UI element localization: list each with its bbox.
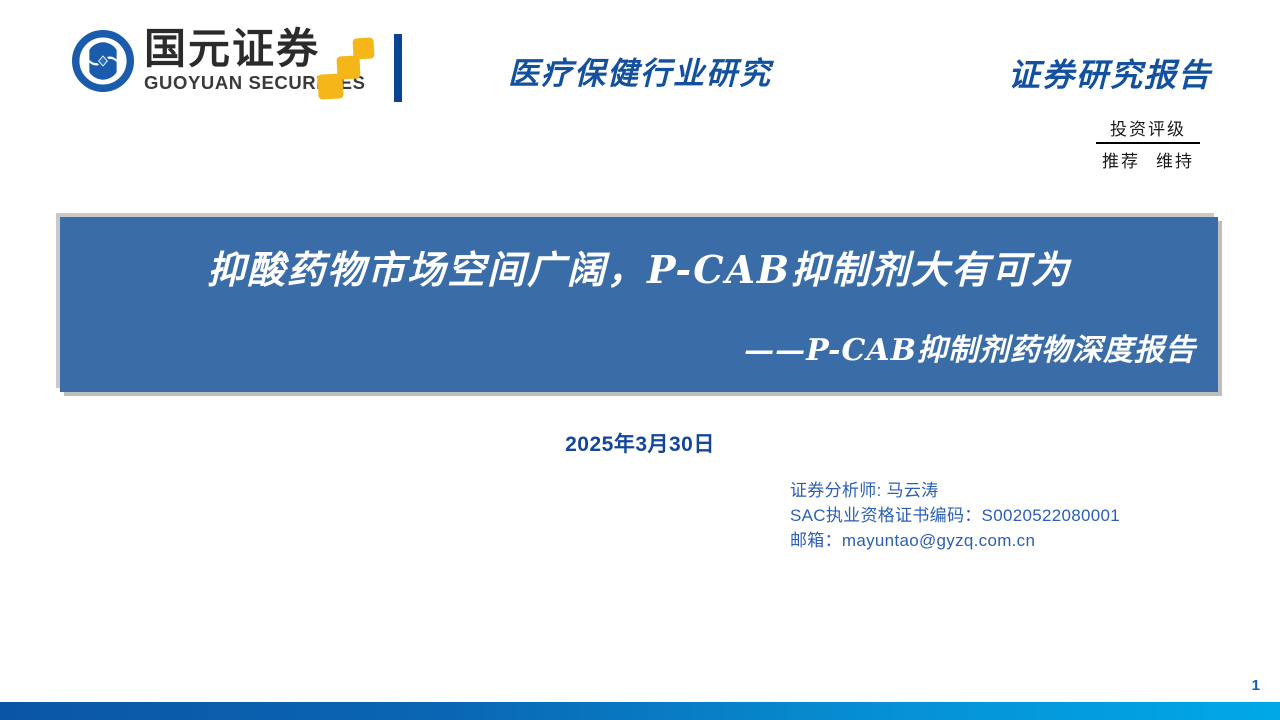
report-cover-slide: 国元证券 GUOYUAN SECURITIES 医疗保健行业研究 证券研究报告 … [0,0,1280,720]
rating-table-row: 推荐维持 [1096,144,1200,172]
report-type-label: 证券研究报告 [1008,50,1212,96]
page-number: 1 [1252,677,1260,694]
industry-subject: 医疗保健行业研究 [430,48,850,93]
report-sub-title: ——P-CAB抑制剂药物深度报告 [744,325,1196,369]
rating-table-header: 投资评级 [1096,115,1200,144]
slide-header: 国元证券 GUOYUAN SECURITIES 医疗保健行业研究 证券研究报告 … [0,0,1280,175]
header-divider [394,34,402,102]
title-card: 抑酸药物市场空间广阔，P-CAB抑制剂大有可为 ——P-CAB抑制剂药物深度报告 [60,217,1218,392]
report-main-title: 抑酸药物市场空间广阔，P-CAB抑制剂大有可为 [60,239,1218,294]
analyst-email: 邮箱：mayuntao@gyzq.com.cn [790,528,1120,553]
footer-gradient-bar [0,702,1280,720]
rating-value: 推荐 [1102,152,1140,172]
analyst-info: 证券分析师: 马云涛 SAC执业资格证书编码：S0020522080001 邮箱… [790,478,1120,553]
analyst-name: 证券分析师: 马云涛 [790,478,1120,503]
investment-rating-table: 投资评级 推荐维持 [1096,115,1200,172]
report-date: 2025年3月30日 [0,428,1280,458]
gold-square-3 [352,37,374,59]
gold-squares-icon [318,30,380,102]
analyst-sac-code: SAC执业资格证书编码：S0020522080001 [790,503,1120,528]
guoyuan-circle-emblem-icon [72,30,134,92]
rating-status: 维持 [1156,152,1194,172]
